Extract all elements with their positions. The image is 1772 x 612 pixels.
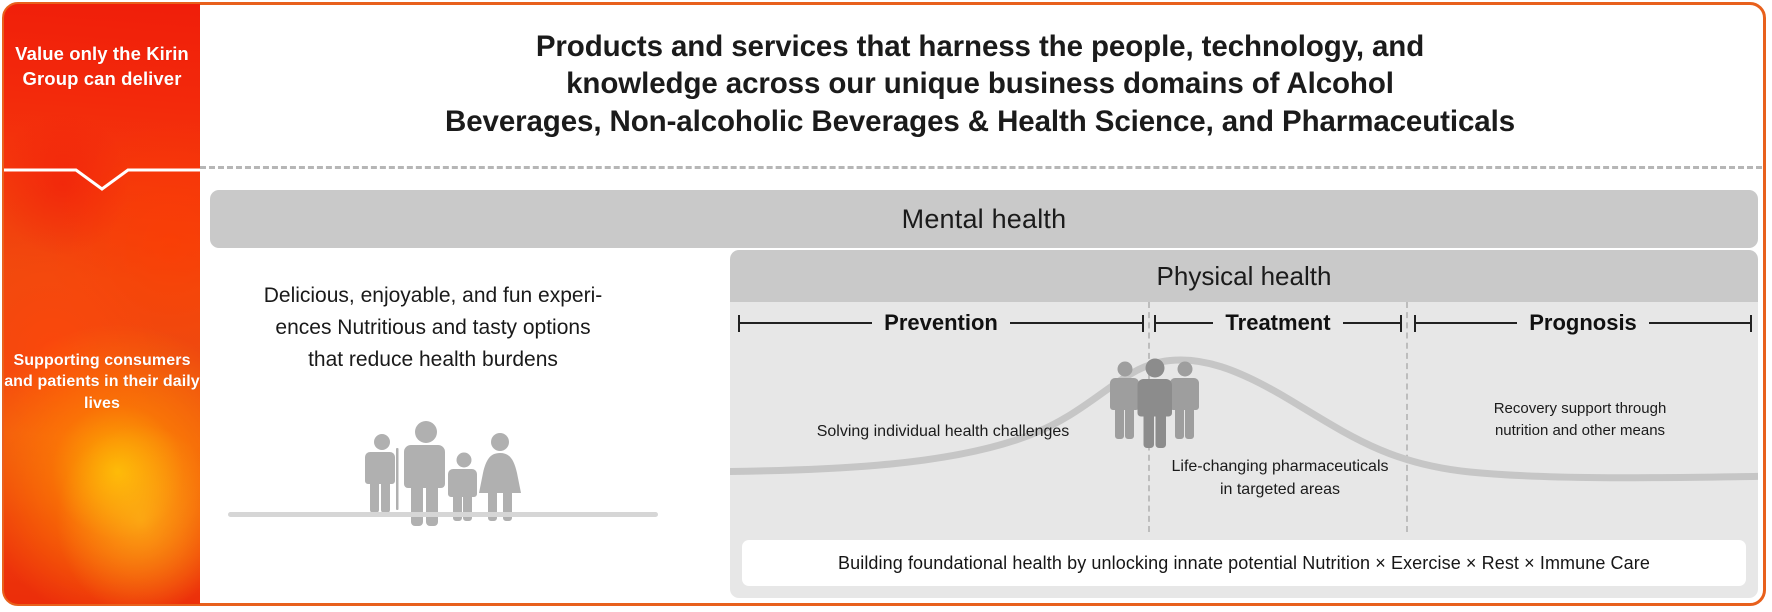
annotation-prognosis-line-1: Recovery support through — [1420, 398, 1740, 420]
foundation-bar: Building foundational health by unlockin… — [742, 540, 1746, 586]
header-line-1: Products and services that harness the p… — [310, 28, 1650, 65]
physical-health-label: Physical health — [1157, 261, 1332, 292]
bracket-rule-right — [1010, 322, 1142, 324]
mental-health-bar: Mental health — [210, 190, 1758, 248]
annotation-prognosis: Recovery support through nutrition and o… — [1420, 398, 1740, 442]
sidebar-top-label: Value only the Kirin Group can deliver — [4, 42, 200, 92]
bracket-cap-right — [1142, 315, 1144, 332]
stage-label-prevention: Prevention — [872, 310, 1010, 336]
group-of-people-icon — [1100, 358, 1210, 448]
header-line-2: knowledge across our unique business dom… — [310, 65, 1650, 102]
sidebar-bottom-label: Supporting consumers and patients in the… — [4, 350, 200, 414]
header-text: Products and services that harness the p… — [310, 28, 1650, 139]
annotation-treatment-line-1: Life-changing pharmaceuticals — [1160, 455, 1400, 478]
mental-health-label: Mental health — [902, 204, 1067, 235]
bracket-rule-right — [1649, 322, 1750, 324]
annotation-treatment-line-2: in targeted areas — [1160, 478, 1400, 501]
stage-label-treatment: Treatment — [1213, 310, 1342, 336]
gradient-sidebar: Value only the Kirin Group can deliver S… — [4, 4, 200, 604]
header-statement: Products and services that harness the p… — [200, 8, 1760, 160]
left-description: Delicious, enjoyable, and fun experi- en… — [228, 280, 638, 376]
bracket-rule-left — [1156, 322, 1213, 324]
sidebar-gradient — [4, 4, 200, 604]
stage-bracket-row: Prevention Treatment Prognosis — [730, 302, 1758, 344]
stage-bracket-prevention: Prevention — [738, 302, 1144, 344]
physical-health-header: Physical health — [730, 250, 1758, 302]
annotation-prognosis-line-2: nutrition and other means — [1420, 420, 1740, 442]
bracket-rule-right — [1343, 322, 1400, 324]
foundation-label: Building foundational health by unlockin… — [838, 553, 1650, 574]
diagram-canvas: Value only the Kirin Group can deliver S… — [0, 0, 1772, 612]
annotation-treatment: Life-changing pharmaceuticals in targete… — [1160, 455, 1400, 501]
header-line-3: Beverages, Non-alcoholic Beverages & Hea… — [310, 103, 1650, 140]
physical-health-panel: Physical health Prevention Treatment — [730, 250, 1758, 598]
stage-label-prognosis: Prognosis — [1517, 310, 1649, 336]
left-copy-line-2: ences Nutritious and tasty options — [228, 312, 638, 344]
stage-bracket-prognosis: Prognosis — [1414, 302, 1752, 344]
baseline-rule-left — [228, 512, 658, 517]
bracket-cap-right — [1750, 315, 1752, 332]
stage-bracket-treatment: Treatment — [1154, 302, 1402, 344]
left-copy-line-3: that reduce health burdens — [228, 344, 638, 376]
annotation-prevention: Solving individual health challenges — [778, 420, 1108, 443]
bracket-rule-left — [740, 322, 872, 324]
dashed-divider — [200, 166, 1762, 169]
bracket-rule-left — [1416, 322, 1517, 324]
bracket-cap-right — [1400, 315, 1402, 332]
left-copy-line-1: Delicious, enjoyable, and fun experi- — [228, 280, 638, 312]
